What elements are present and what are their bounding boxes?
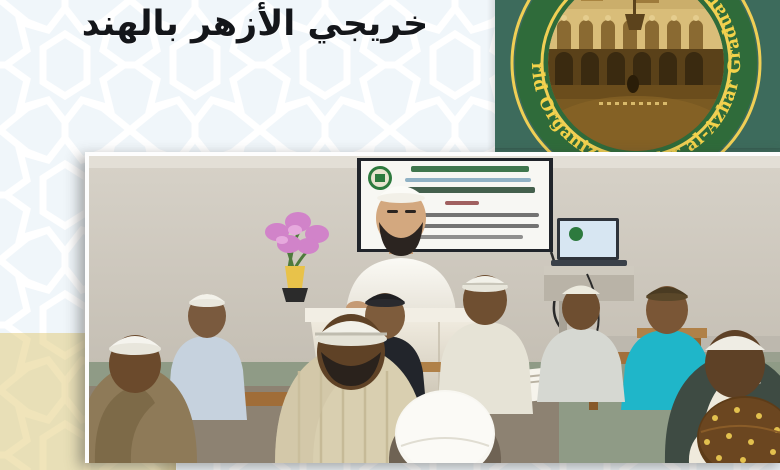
page-title: خريجي الأزهر بالهند bbox=[60, 4, 450, 44]
event-photograph bbox=[89, 156, 780, 463]
photo-frame bbox=[85, 152, 780, 463]
